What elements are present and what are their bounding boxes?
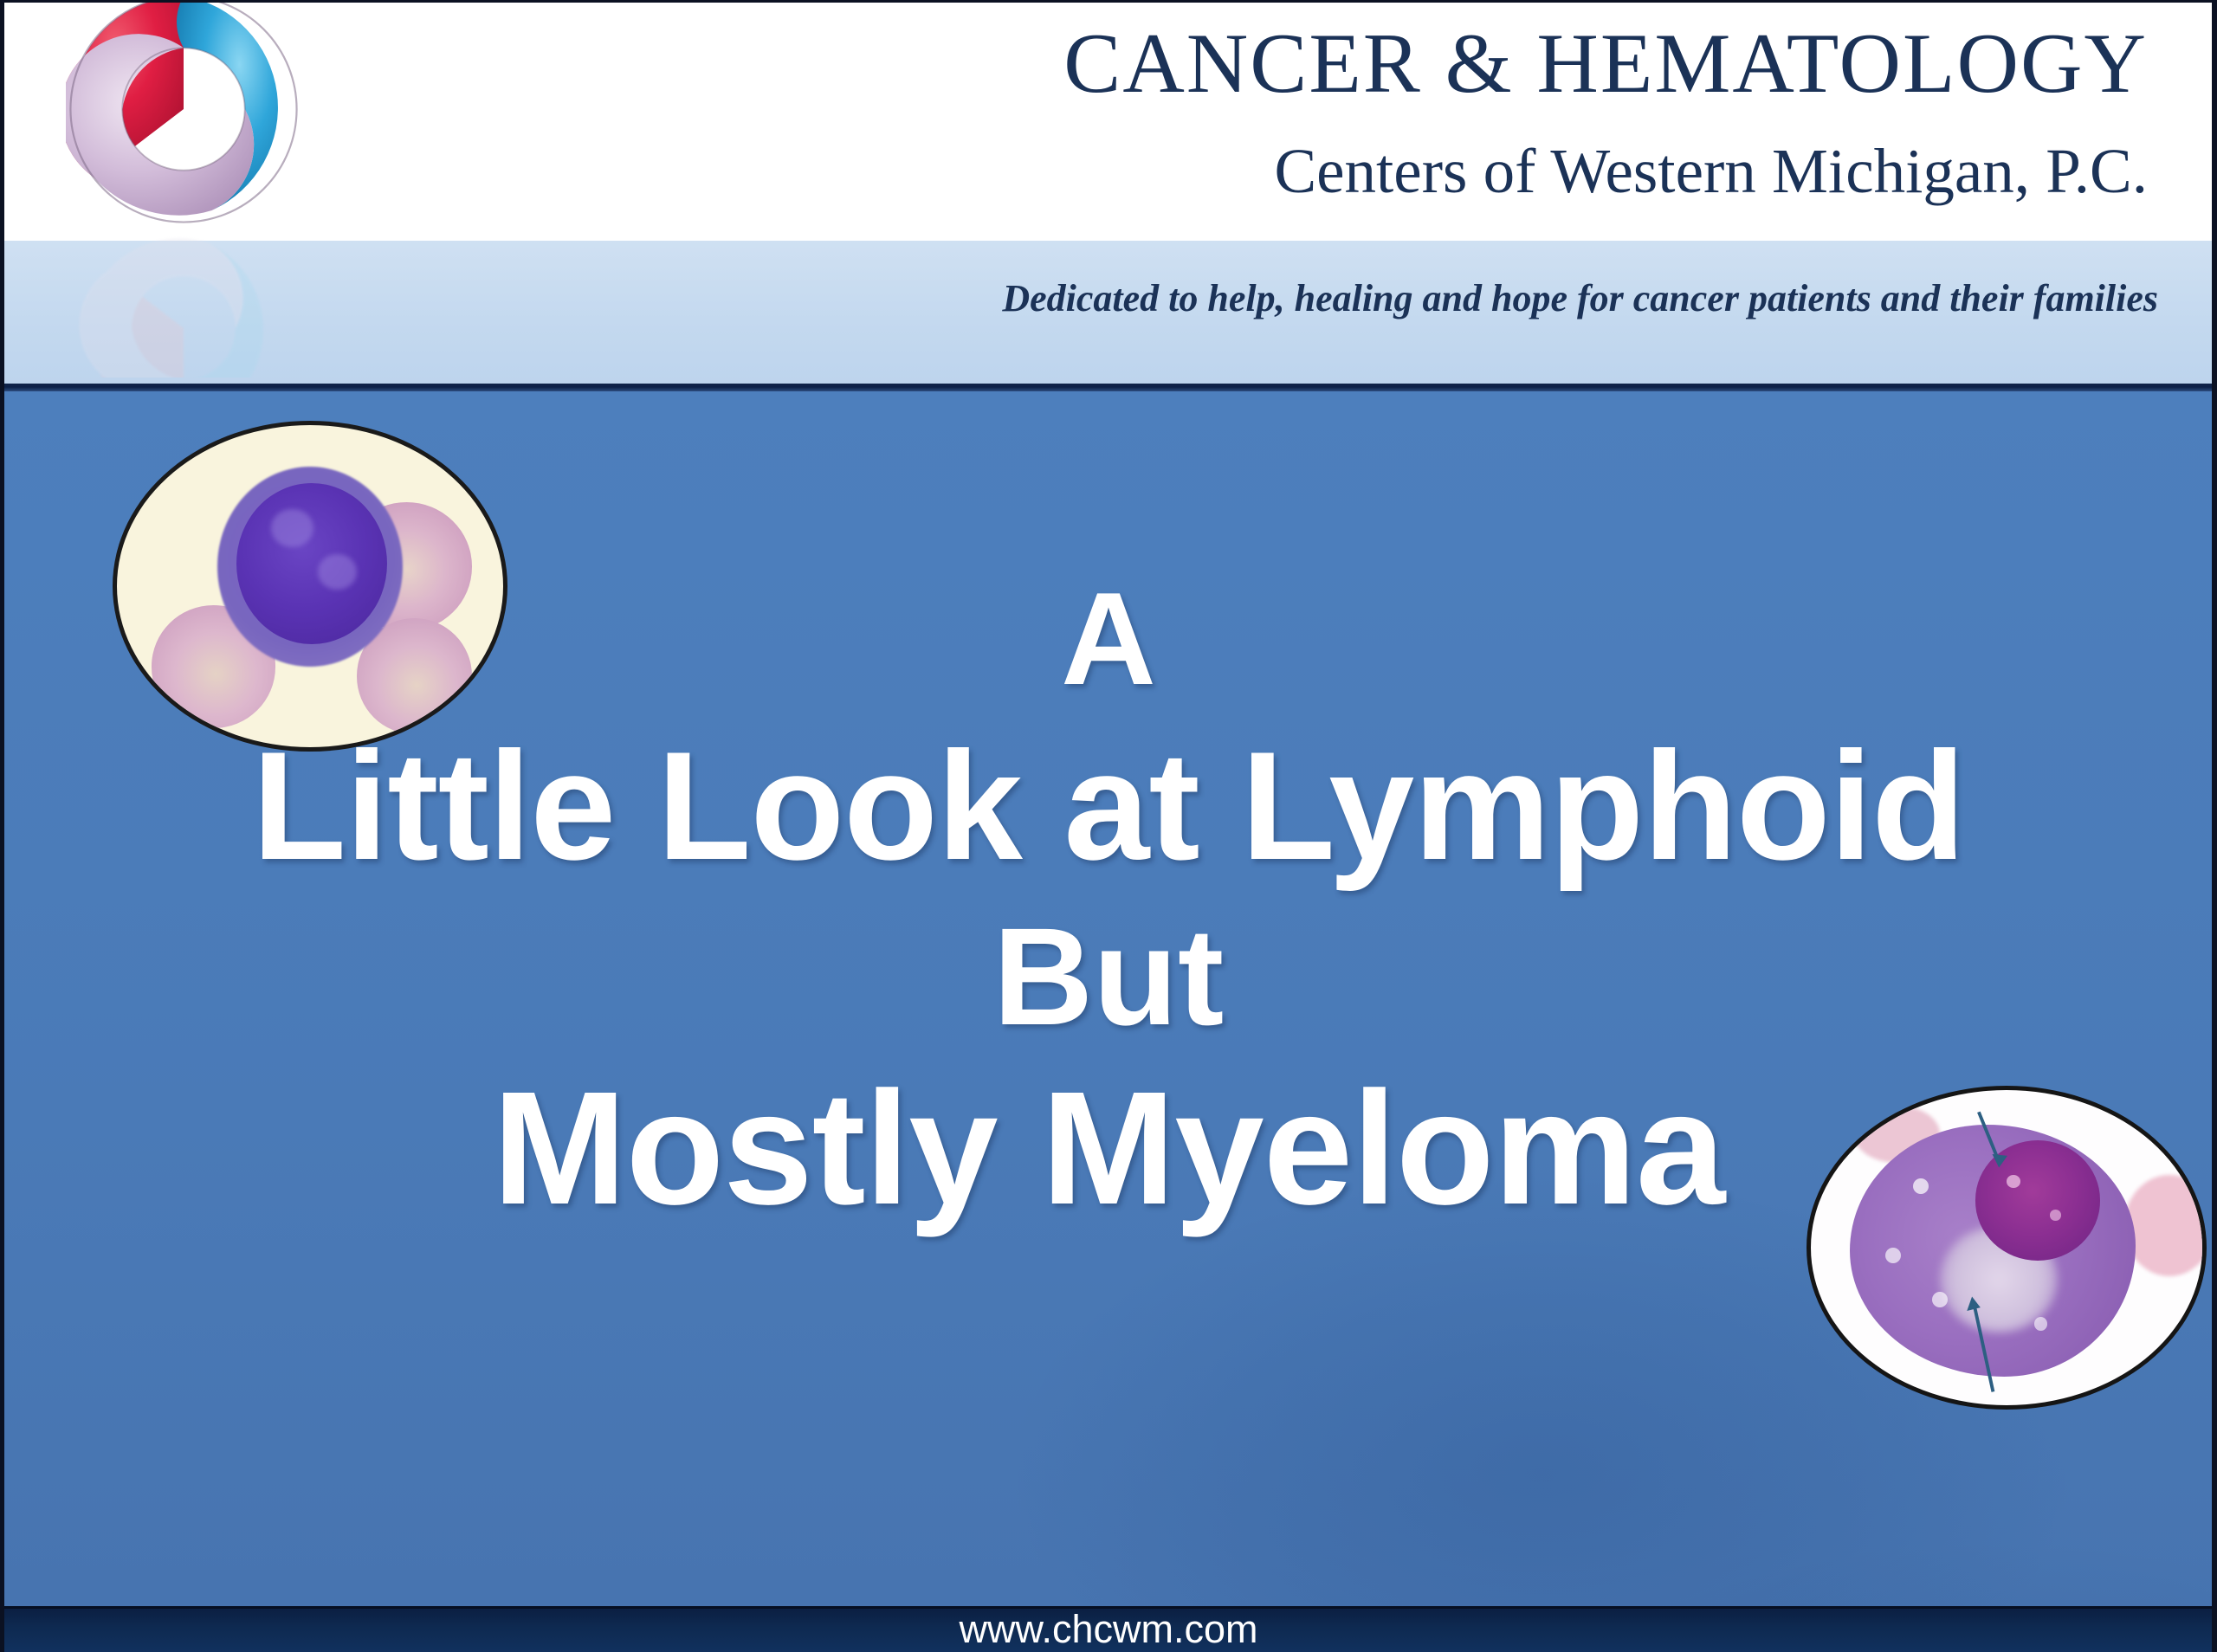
lymphocyte-micrograph bbox=[113, 421, 507, 752]
nucleus-chromatin-2 bbox=[318, 554, 357, 590]
organization-subtitle: Centers of Western Michigan, P.C. bbox=[0, 139, 2148, 205]
lymphocyte-nucleus bbox=[236, 483, 387, 644]
plasma-cell-micrograph bbox=[1807, 1086, 2207, 1410]
organization-tagline: Dedicated to help, healing and hope for … bbox=[0, 279, 2158, 319]
organization-name: CANCER & HEMATOLOGY bbox=[0, 19, 2148, 109]
presentation-slide: CANCER & HEMATOLOGY Centers of Western M… bbox=[0, 0, 2217, 1652]
header-divider-rule bbox=[0, 384, 2217, 391]
annotation-arrows-icon bbox=[1811, 1090, 2202, 1405]
footer-website-link[interactable]: www.chcwm.com bbox=[0, 1608, 2217, 1651]
